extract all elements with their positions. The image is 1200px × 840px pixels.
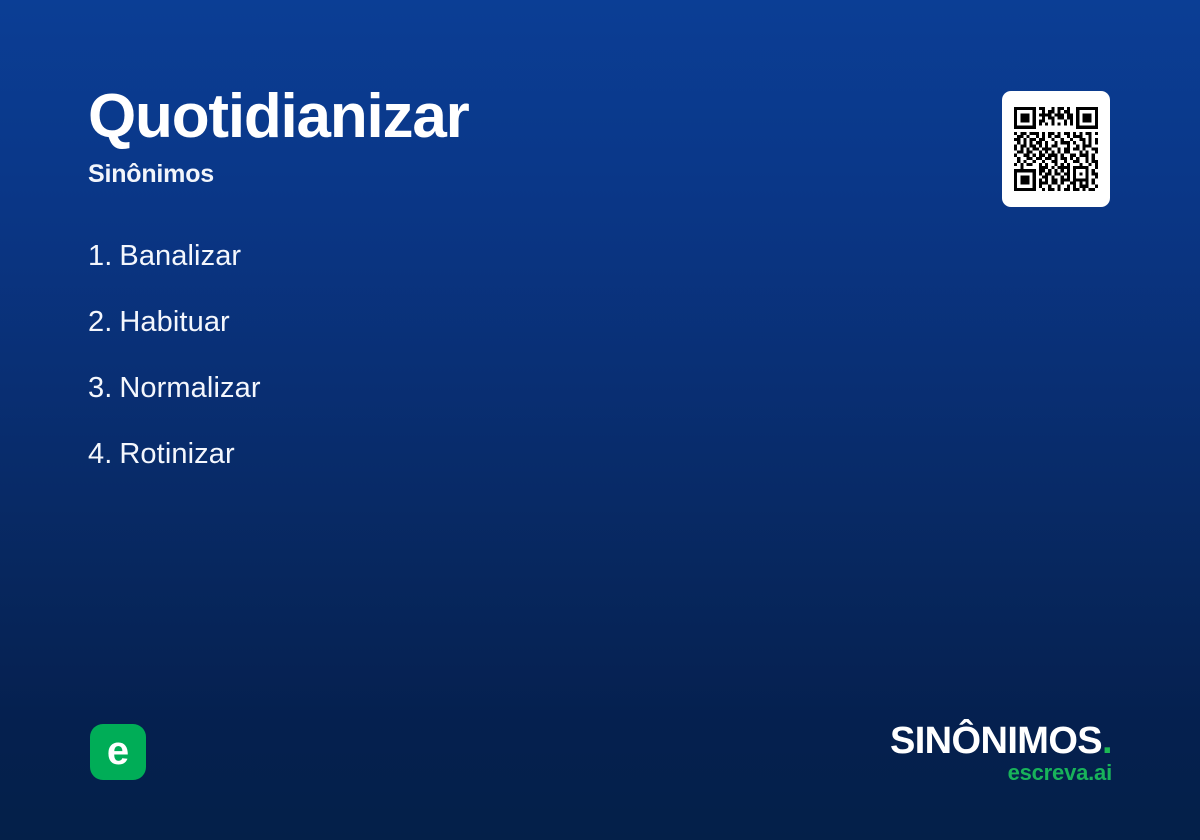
- list-item: 1.Banalizar: [88, 236, 261, 302]
- list-item-number: 1.: [88, 240, 112, 272]
- brand-name: SINÔNIMOS.: [890, 722, 1112, 760]
- list-item-number: 3.: [88, 372, 112, 404]
- list-item: 2.Habituar: [88, 302, 261, 368]
- qr-code-icon: [1011, 104, 1101, 194]
- list-item-word: Banalizar: [119, 240, 241, 272]
- header: Quotidianizar Sinônimos: [88, 86, 469, 189]
- escreva-app-icon[interactable]: e: [90, 724, 146, 780]
- page-title: Quotidianizar: [88, 86, 469, 148]
- app-icon-letter: e: [107, 731, 129, 771]
- brand-dot: .: [1102, 720, 1112, 762]
- page-subtitle: Sinônimos: [88, 160, 469, 189]
- list-item-word: Habituar: [119, 306, 229, 338]
- brand-subtitle: escreva.ai: [890, 762, 1112, 784]
- list-item-number: 2.: [88, 306, 112, 338]
- list-item-number: 4.: [88, 438, 112, 470]
- synonym-card: Quotidianizar Sinônimos: [0, 0, 1200, 840]
- list-item: 3.Normalizar: [88, 368, 261, 434]
- list-item-word: Rotinizar: [119, 438, 234, 470]
- list-item-word: Normalizar: [119, 372, 260, 404]
- synonym-list: 1.Banalizar 2.Habituar 3.Normalizar 4.Ro…: [88, 236, 261, 500]
- brand-logo: SINÔNIMOS. escreva.ai: [890, 722, 1112, 784]
- qr-code[interactable]: [1002, 91, 1110, 207]
- list-item: 4.Rotinizar: [88, 434, 261, 500]
- brand-name-text: SINÔNIMOS: [890, 720, 1102, 762]
